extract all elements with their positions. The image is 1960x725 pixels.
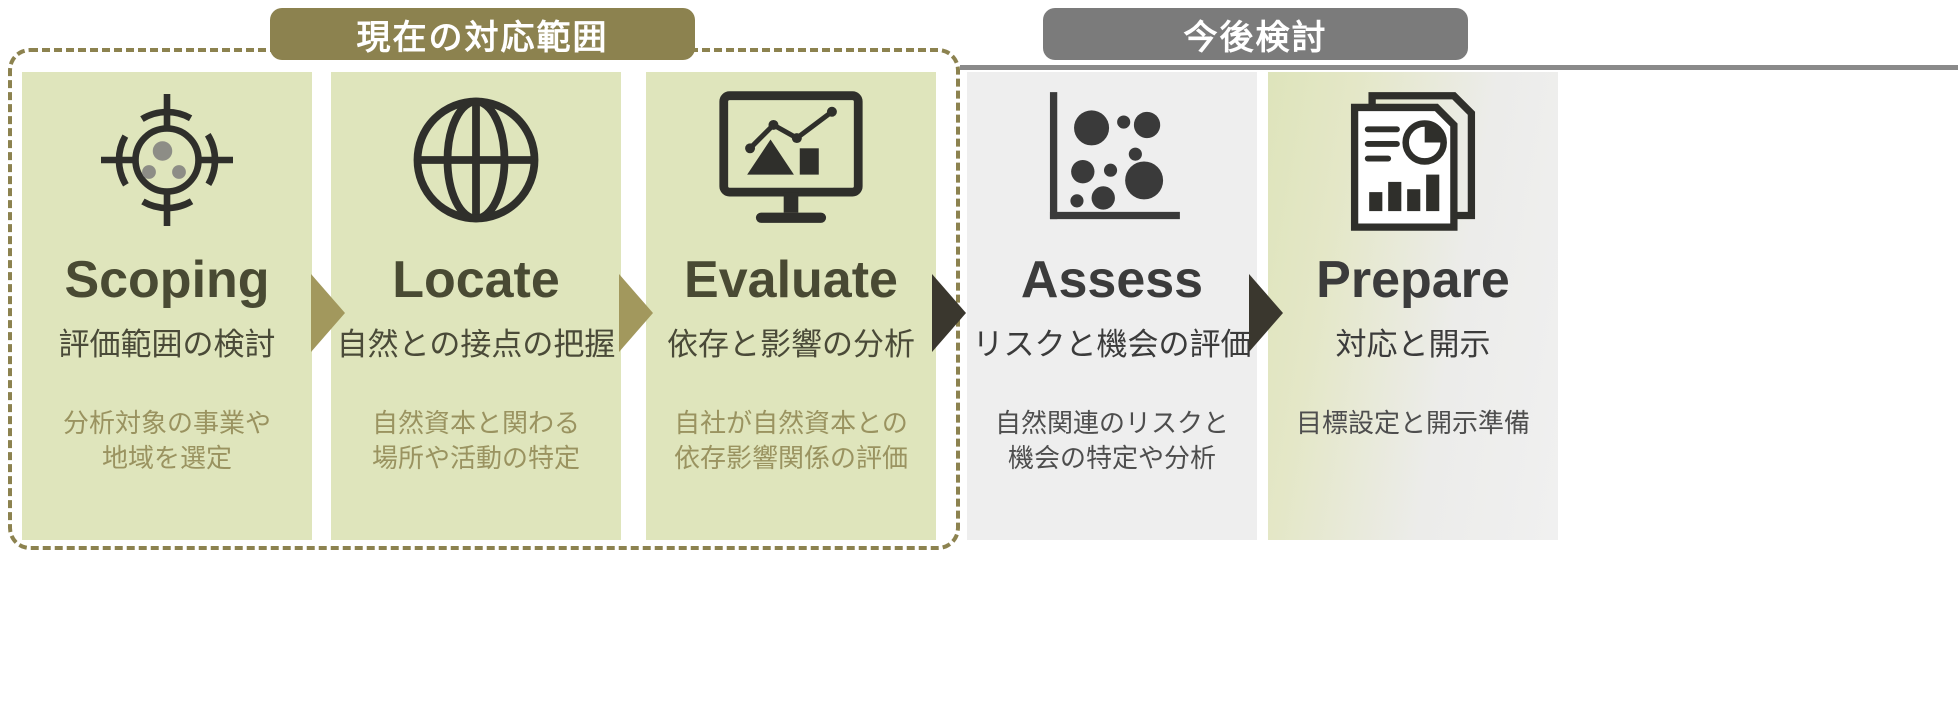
badge-future-scope-label: 今後検討: [1184, 10, 1328, 59]
step-subtitle-assess: リスクと機会の評価: [973, 328, 1252, 362]
step-title-prepare: Prepare: [1316, 254, 1510, 306]
step-description-assess: 自然関連のリスクと 機会の特定や分析: [995, 406, 1229, 476]
step-card-assess[interactable]: Assess リスクと機会の評価 自然関連のリスクと 機会の特定や分析: [967, 72, 1257, 540]
step-description-locate: 自然資本と関わる 場所や活動の特定: [372, 406, 580, 476]
arrow-locate-evaluate: [619, 274, 653, 352]
arrow-evaluate-assess: [932, 274, 966, 352]
diagram-canvas: 現在の対応範囲 今後検討 Scop: [0, 0, 1960, 725]
step-subtitle-prepare: 対応と開示: [1336, 328, 1491, 362]
badge-current-scope: 現在の対応範囲: [270, 8, 695, 60]
arrow-scoping-locate: [311, 274, 345, 352]
globe-icon: [401, 80, 551, 240]
arrow-assess-prepare: [1249, 274, 1283, 352]
step-title-assess: Assess: [1021, 254, 1203, 306]
future-scope-rule: [960, 65, 1958, 70]
monitor-chart-icon: [715, 80, 867, 240]
step-card-scoping[interactable]: Scoping 評価範囲の検討 分析対象の事業や 地域を選定: [22, 72, 312, 540]
step-subtitle-scoping: 評価範囲の検討: [59, 328, 276, 362]
step-card-locate[interactable]: Locate 自然との接点の把握 自然資本と関わる 場所や活動の特定: [331, 72, 621, 540]
bubble-scatter-chart-icon: [1039, 80, 1185, 240]
target-crosshair-icon: [92, 80, 242, 240]
step-title-evaluate: Evaluate: [684, 254, 898, 306]
step-description-evaluate: 自社が自然資本との 依存影響関係の評価: [674, 406, 908, 476]
step-subtitle-locate: 自然との接点の把握: [337, 328, 616, 362]
step-title-scoping: Scoping: [64, 254, 269, 306]
step-description-prepare: 目標設定と開示準備: [1296, 406, 1530, 441]
step-card-evaluate[interactable]: Evaluate 依存と影響の分析 自社が自然資本との 依存影響関係の評価: [646, 72, 936, 540]
step-card-prepare[interactable]: Prepare 対応と開示 目標設定と開示準備: [1268, 72, 1558, 540]
badge-current-scope-label: 現在の対応範囲: [357, 10, 609, 59]
report-document-icon: [1342, 80, 1484, 240]
step-description-scoping: 分析対象の事業や 地域を選定: [63, 406, 271, 476]
badge-future-scope: 今後検討: [1043, 8, 1468, 60]
step-title-locate: Locate: [392, 254, 560, 306]
step-subtitle-evaluate: 依存と影響の分析: [667, 328, 915, 362]
